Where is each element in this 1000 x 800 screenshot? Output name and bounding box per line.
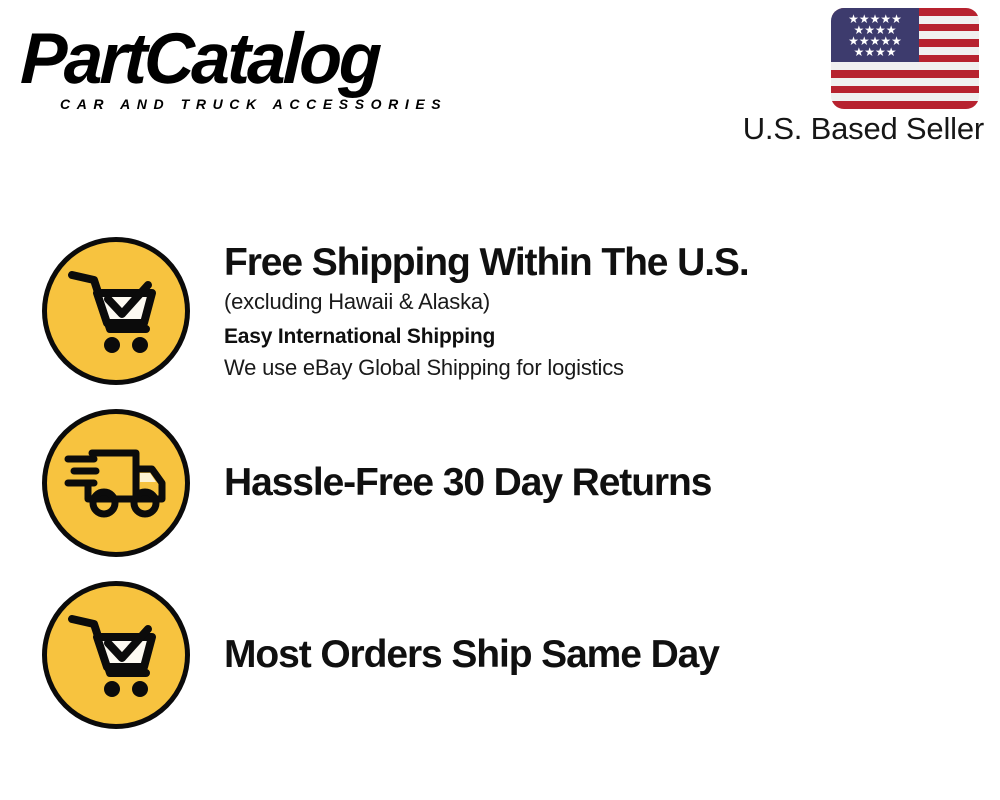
feature-text: Hassle-Free 30 Day Returns	[224, 460, 1000, 506]
feature-subtitle: Easy International Shipping	[224, 322, 1000, 352]
flag-canton: ★★★★★ ★★★★ ★★★★★ ★★★★	[831, 8, 919, 62]
feature-title: Hassle-Free 30 Day Returns	[224, 460, 1000, 506]
feature-title: Most Orders Ship Same Day	[224, 632, 1000, 678]
brand-logo: PartCatalog CAR AND TRUCK ACCESSORIES	[22, 22, 492, 114]
seller-caption: U.S. Based Seller	[718, 111, 986, 147]
feature-list: Free Shipping Within The U.S. (excluding…	[0, 236, 1000, 752]
brand-tagline: CAR AND TRUCK ACCESSORIES	[60, 96, 447, 112]
brand-wordmark: PartCatalog	[19, 22, 379, 96]
shopping-cart-check-icon	[42, 581, 190, 729]
feature-subnote: We use eBay Global Shipping for logistic…	[224, 352, 1000, 383]
feature-title: Free Shipping Within The U.S.	[224, 240, 1000, 286]
feature-row: Most Orders Ship Same Day	[0, 580, 1000, 730]
delivery-truck-icon	[42, 409, 190, 557]
feature-row: Free Shipping Within The U.S. (excluding…	[0, 236, 1000, 386]
feature-note: (excluding Hawaii & Alaska)	[224, 286, 1000, 317]
feature-text: Free Shipping Within The U.S. (excluding…	[224, 240, 1000, 383]
us-based-seller-badge: ★★★★★ ★★★★ ★★★★★ ★★★★ U.S. Based Seller	[718, 8, 986, 147]
us-flag-icon: ★★★★★ ★★★★ ★★★★★ ★★★★	[831, 8, 979, 109]
feature-text: Most Orders Ship Same Day	[224, 632, 1000, 678]
feature-row: Hassle-Free 30 Day Returns	[0, 408, 1000, 558]
shopping-cart-check-icon	[42, 237, 190, 385]
